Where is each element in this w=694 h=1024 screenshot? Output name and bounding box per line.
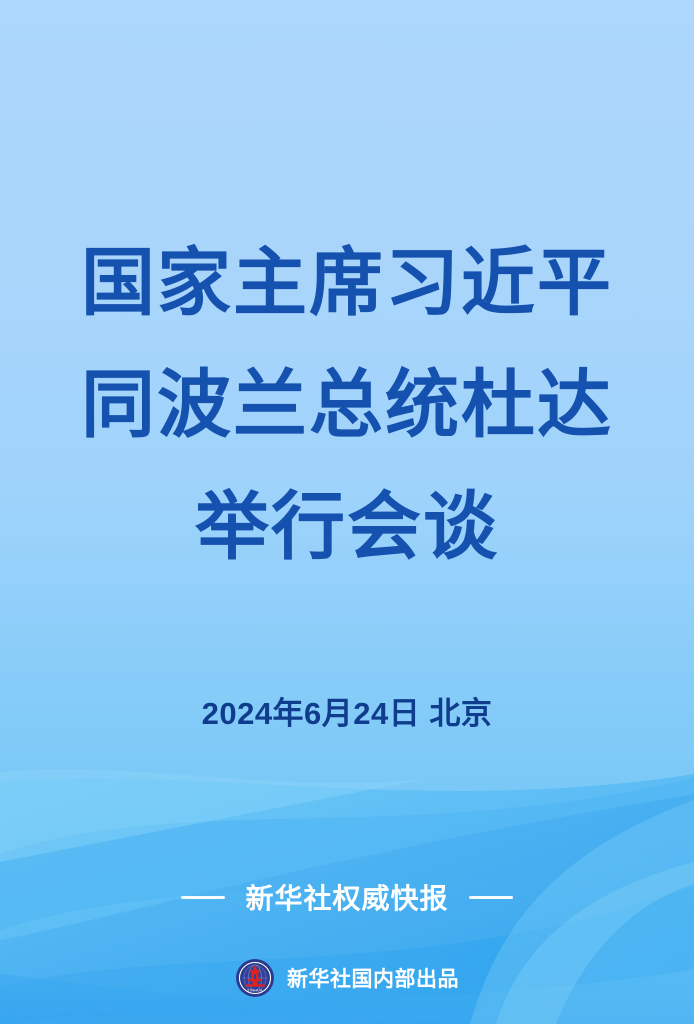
news-poster: 国家主席习近平 同波兰总统杜达 举行会谈 2024年6月24日 北京 新华社权威… [0, 0, 694, 1024]
date-place: 2024年6月24日 北京 [0, 688, 694, 733]
headline-line-3: 举行会谈 [0, 466, 694, 588]
footer-credit: XINHUA 新华社国内部出品 [0, 958, 694, 998]
footer-credit-label: 新华社国内部出品 [287, 963, 459, 993]
banner-rule-right [469, 896, 513, 899]
brand-banner: 新华社权威快报 [0, 877, 694, 917]
headline: 国家主席习近平 同波兰总统杜达 举行会谈 [0, 222, 694, 588]
logo-wordmark: XINHUA [247, 988, 263, 992]
banner-label: 新华社权威快报 [245, 877, 448, 917]
banner-rule-left [181, 896, 225, 899]
xinhua-logo-icon: XINHUA [235, 958, 275, 998]
headline-line-2: 同波兰总统杜达 [0, 344, 694, 466]
headline-line-1: 国家主席习近平 [0, 222, 694, 344]
